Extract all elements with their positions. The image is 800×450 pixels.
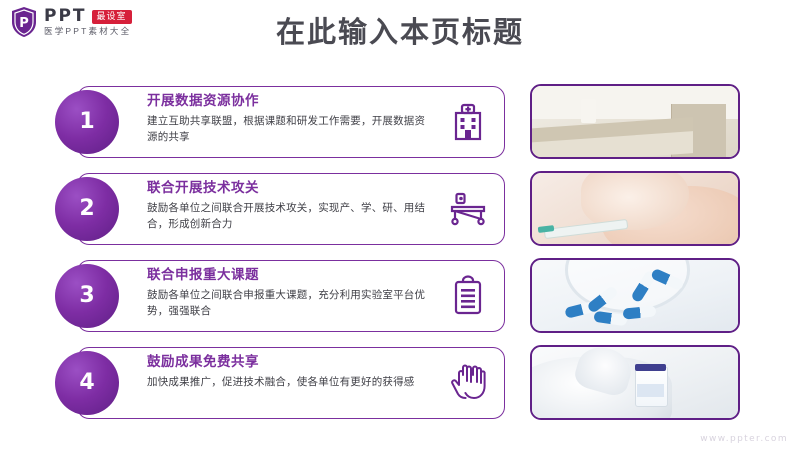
helping-hands-icon bbox=[445, 360, 491, 406]
list-item[interactable]: 2 联合开展技术攻关 鼓励各单位之间联合开展技术攻关，实现产、学、研、用结合，形… bbox=[55, 173, 505, 245]
content-list: 1 开展数据资源协作 建立互助共享联盟，根据课题和研发工作需要，开展数据资源的共… bbox=[55, 86, 505, 434]
list-item[interactable]: 1 开展数据资源协作 建立互助共享联盟，根据课题和研发工作需要，开展数据资源的共… bbox=[55, 86, 505, 158]
step-number-badge: 2 bbox=[55, 177, 119, 241]
list-item-description: 加快成果推广，促进技术融合，使各单位有更好的获得感 bbox=[147, 374, 433, 390]
step-number: 2 bbox=[79, 198, 94, 220]
footer-watermark: www.ppter.com bbox=[700, 434, 788, 444]
step-number: 1 bbox=[79, 111, 94, 133]
list-item-title: 联合开展技术攻关 bbox=[147, 180, 433, 196]
list-item-text: 联合开展技术攻关 鼓励各单位之间联合开展技术攻关，实现产、学、研、用结合，形成创… bbox=[147, 180, 433, 233]
clinic-lab-room-photo bbox=[530, 84, 740, 159]
list-item-text: 联合申报重大课题 鼓励各单位之间联合申报重大课题，充分利用实验室平台优势，强强联… bbox=[147, 267, 433, 320]
list-item-title: 开展数据资源协作 bbox=[147, 93, 433, 109]
list-item-title: 鼓励成果免费共享 bbox=[147, 354, 433, 370]
list-item-text: 鼓励成果免费共享 加快成果推广，促进技术融合，使各单位有更好的获得感 bbox=[147, 354, 433, 390]
hospital-bed-icon bbox=[445, 186, 491, 232]
gloved-hand-vial-photo bbox=[530, 345, 740, 420]
page-title: 在此输入本页标题 bbox=[0, 18, 800, 50]
list-item-description: 鼓励各单位之间联合申报重大课题，充分利用实验室平台优势，强强联合 bbox=[147, 287, 433, 320]
step-number-badge: 1 bbox=[55, 90, 119, 154]
injection-syringe-photo bbox=[530, 171, 740, 246]
step-number-badge: 3 bbox=[55, 264, 119, 328]
step-number: 3 bbox=[79, 285, 94, 307]
list-item-description: 建立互助共享联盟，根据课题和研发工作需要，开展数据资源的共享 bbox=[147, 113, 433, 146]
clipboard-icon bbox=[445, 273, 491, 319]
step-number-badge: 4 bbox=[55, 351, 119, 415]
list-item[interactable]: 4 鼓励成果免费共享 加快成果推广，促进技术融合，使各单位有更好的获得感 bbox=[55, 347, 505, 419]
list-item-text: 开展数据资源协作 建立互助共享联盟，根据课题和研发工作需要，开展数据资源的共享 bbox=[147, 93, 433, 146]
list-item[interactable]: 3 联合申报重大课题 鼓励各单位之间联合申报重大课题，充分利用实验室平台优势，强… bbox=[55, 260, 505, 332]
photo-column bbox=[530, 84, 740, 432]
blue-capsules-photo bbox=[530, 258, 740, 333]
list-item-title: 联合申报重大课题 bbox=[147, 267, 433, 283]
list-item-description: 鼓励各单位之间联合开展技术攻关，实现产、学、研、用结合，形成创新合力 bbox=[147, 200, 433, 233]
step-number: 4 bbox=[79, 372, 94, 394]
hospital-building-icon bbox=[445, 99, 491, 145]
